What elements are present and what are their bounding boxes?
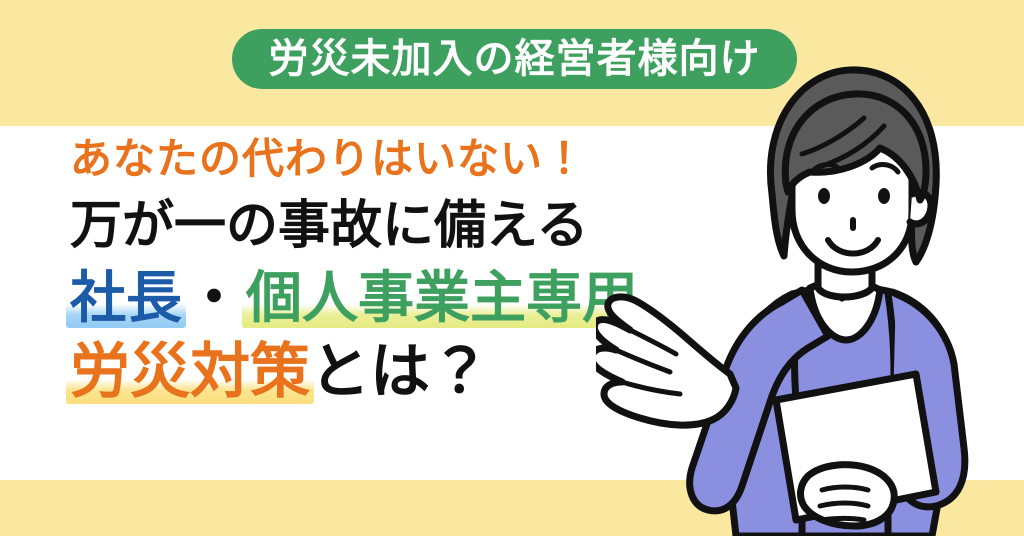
- hand-open-palm: [596, 297, 736, 425]
- businesswoman-illustration: [596, 44, 1024, 536]
- headline-keyword-president: 社長: [70, 270, 182, 326]
- headline-keyword-sole-proprietor: 個人事業主専用: [246, 270, 638, 326]
- promo-banner: 労災未加入の経営者様向け あなたの代わりはいない！ 万が一の事故に備える 社長・…: [0, 0, 1024, 536]
- eye-right: [878, 188, 890, 204]
- headline-question-suffix: とは？: [310, 338, 490, 405]
- finger-grip-3: [822, 519, 864, 521]
- headline-keyword-rosai-taisaku: 労災対策: [70, 342, 310, 402]
- businesswoman-figure: [596, 44, 1024, 536]
- headline-separator-dot: ・: [182, 266, 246, 329]
- eye-left: [818, 188, 830, 204]
